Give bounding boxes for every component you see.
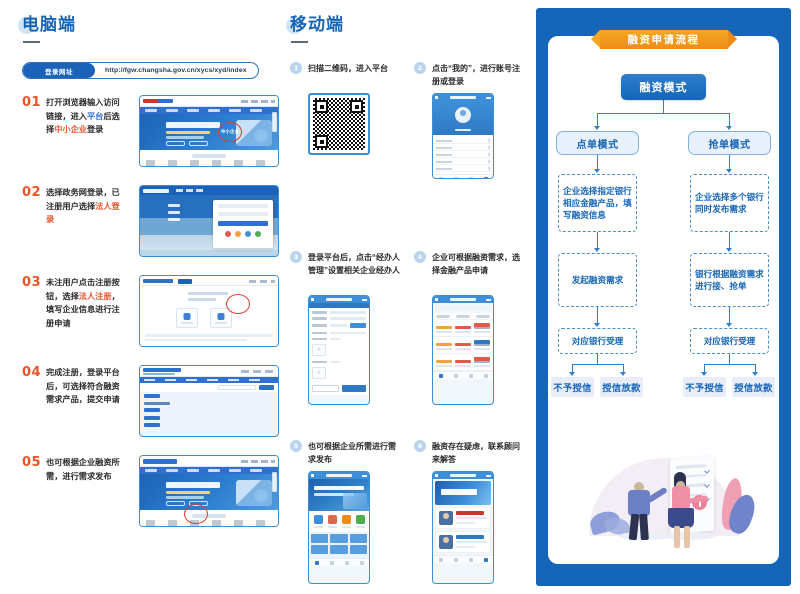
heading-underline — [23, 41, 40, 43]
qr-code[interactable] — [308, 93, 370, 155]
mobile-step-text: 点击“我的”，进行账号注册或登录 — [432, 62, 524, 88]
mobile-section-heading: 移动端 — [290, 14, 530, 58]
heading-underline — [291, 41, 308, 43]
flow-arrow — [569, 372, 575, 376]
pc-step-05: 05 也可根据企业融资所需，进行需求发布 — [22, 455, 280, 529]
flow-node-b1-step-3: 对应银行受理 — [558, 328, 637, 354]
flow-panel-card: 融资模式 点单模式 抢单模式 企业选择指定银行相应金融产 — [548, 36, 779, 564]
platform-home-screenshot: 中小企业 — [139, 95, 279, 167]
flow-arrow — [752, 372, 758, 376]
flow-leaf-b2-deny: 不予授信 — [683, 377, 726, 397]
pc-step-text: 完成注册，登录平台后，可选择符合融资需求产品，提交申请 — [46, 366, 126, 407]
mobile-step-grid: 1 扫描二维码，进入平台 2 点击“我的”，进行账号注册或登录 — [290, 58, 530, 588]
register-page-screenshot — [139, 275, 279, 347]
product-list-screenshot — [139, 365, 279, 437]
flow-leaf-b1-approve: 授信放款 — [600, 377, 643, 397]
pc-step-text: 未注用户点击注册按钮，选择法人注册，填写企业信息进行注册申请 — [46, 276, 126, 330]
mobile-heading-label: 移动端 — [290, 15, 344, 34]
flow-node-b2-step-2: 银行根据融资需求进行接、抢单 — [690, 253, 769, 307]
flow-connector — [597, 113, 730, 114]
flow-node-b2-step-3: 对应银行受理 — [690, 328, 769, 354]
url-label: 登录网址 — [23, 63, 95, 78]
flow-ribbon-title: 融资申请流程 — [600, 30, 728, 49]
pc-step-01: 01 打开浏览器输入访问链接，进入平台后选择中小企业登录 中小企业 — [22, 95, 280, 169]
pc-column: 电脑端 登录网址 http://fgw.changsha.gov.cn/xycs… — [22, 14, 280, 529]
pc-step-number: 03 — [22, 275, 41, 290]
pc-section-heading: 电脑端 — [22, 14, 280, 58]
step-badge: 6 — [414, 440, 426, 452]
pc-step-04: 04 完成注册，登录平台后，可选择符合融资需求产品，提交申请 — [22, 365, 280, 439]
flow-node-root: 融资模式 — [621, 74, 706, 100]
mine-tab-screenshot — [432, 93, 494, 179]
finance-product-screenshot — [432, 295, 494, 405]
mobile-step-text: 也可根据企业所需进行需求发布 — [308, 440, 400, 466]
flow-node-b2-step-1: 企业选择多个银行同时发布需求 — [690, 174, 769, 232]
flow-arrow — [594, 169, 600, 173]
flow-connector — [704, 364, 755, 365]
flow-connector — [729, 354, 730, 364]
flow-connector — [663, 100, 664, 113]
mobile-step-text: 登录平台后，点击“经办人管理”设置相关企业经办人 — [308, 251, 400, 277]
step-badge: 3 — [290, 251, 302, 263]
step-badge: 2 — [414, 62, 426, 74]
flow-arrow — [620, 372, 626, 376]
pc-step-number: 05 — [22, 455, 41, 470]
flow-arrow — [726, 248, 732, 252]
pc-step-text: 打开浏览器输入访问链接，进入平台后选择中小企业登录 — [46, 96, 126, 137]
pc-step-number: 04 — [22, 365, 41, 380]
pc-step-text: 选择政务网登录，已注册用户选择法人登录 — [46, 186, 126, 227]
flow-illustration — [562, 446, 765, 554]
pc-step-text: 也可根据企业融资所需，进行需求发布 — [46, 456, 126, 483]
login-url-bar[interactable]: 登录网址 http://fgw.changsha.gov.cn/xycs/xyd… — [22, 62, 259, 79]
flow-connector — [729, 113, 730, 127]
poster-root: 电脑端 登录网址 http://fgw.changsha.gov.cn/xycs… — [0, 0, 800, 594]
flow-arrow — [594, 248, 600, 252]
mobile-home-screenshot — [308, 471, 370, 584]
flow-node-mode-2: 抢单模式 — [688, 131, 771, 155]
flow-connector — [597, 113, 598, 127]
flow-node-b1-step-1: 企业选择指定银行相应金融产品，填写融资信息 — [558, 174, 637, 232]
operator-manage-screenshot — [308, 295, 370, 405]
flow-leaf-b1-deny: 不予授信 — [551, 377, 594, 397]
flow-arrow — [701, 372, 707, 376]
government-login-screenshot — [139, 185, 279, 257]
step-badge: 1 — [290, 62, 302, 74]
flow-arrow — [726, 323, 732, 327]
flow-connector — [597, 354, 598, 364]
text-seg: 登录 — [87, 125, 103, 134]
mobile-column: 移动端 1 扫描二维码，进入平台 2 点击“我的”，进行账号注册或登录 — [290, 14, 530, 588]
flow-panel: 融资模式 点单模式 抢单模式 企业选择指定银行相应金融产 — [536, 8, 791, 586]
text-seg-highlight: 平台 — [87, 112, 103, 121]
pc-step-number: 02 — [22, 185, 41, 200]
text-seg-highlight: 中小企业 — [54, 125, 87, 134]
step-badge: 5 — [290, 440, 302, 452]
mobile-step-text: 企业可根据融资需求，选择金融产品申请 — [432, 251, 524, 277]
flow-arrow — [594, 126, 600, 130]
pc-step-number: 01 — [22, 95, 41, 110]
text-seg-highlight: 法人注册 — [79, 292, 112, 301]
flow-leaf-b2-approve: 授信放款 — [732, 377, 775, 397]
step-badge: 4 — [414, 251, 426, 263]
flow-connector — [572, 364, 623, 365]
mobile-step-text: 融资存在疑虑，联系顾问来解答 — [432, 440, 524, 466]
demand-publish-screenshot — [139, 455, 279, 527]
flow-arrow — [726, 169, 732, 173]
url-value[interactable]: http://fgw.changsha.gov.cn/xycs/xyd/inde… — [95, 67, 258, 74]
advisor-list-screenshot — [432, 471, 494, 584]
flow-node-b1-step-2: 发起融资需求 — [558, 253, 637, 307]
flow-node-mode-1: 点单模式 — [556, 131, 639, 155]
pc-heading-label: 电脑端 — [22, 15, 76, 34]
pc-step-02: 02 选择政务网登录，已注册用户选择法人登录 — [22, 185, 280, 259]
flow-arrow — [726, 126, 732, 130]
flow-arrow — [594, 323, 600, 327]
pc-step-03: 03 未注用户点击注册按钮，选择法人注册，填写企业信息进行注册申请 — [22, 275, 280, 349]
mobile-step-text: 扫描二维码，进入平台 — [308, 62, 400, 75]
